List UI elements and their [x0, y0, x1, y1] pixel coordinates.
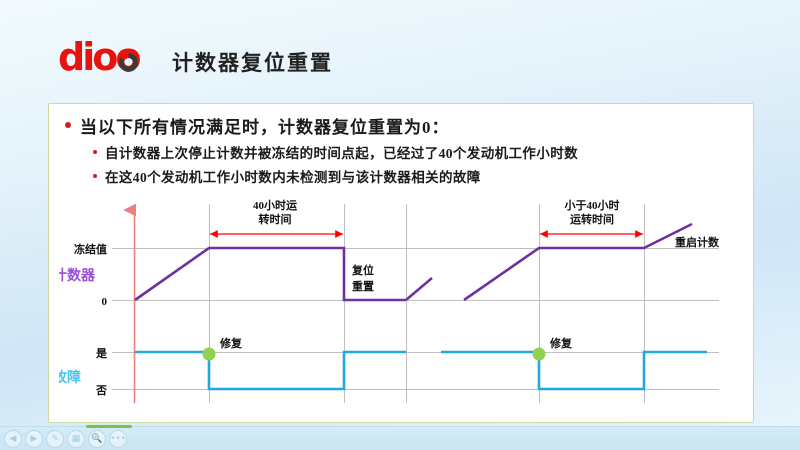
svg-text:小于40小时: 小于40小时: [564, 198, 620, 212]
repair-label-2: 修复: [549, 336, 573, 350]
counter-trace-reset-ramp: [406, 278, 432, 300]
annotation-restart-count: 重启计数: [675, 235, 720, 249]
counter-trace-second-cycle: [464, 224, 692, 300]
bullet-dot-icon: [65, 122, 71, 128]
bullet-dot-icon: [93, 174, 97, 178]
slides-grid-icon[interactable]: ▦: [67, 430, 85, 448]
bullet-sub-1-text: 自计数器上次停止计数并被冻结的时间点起，已经过了40个发动机工作小时数: [105, 146, 578, 161]
annotation-span-less-40h: 小于40小时 运转时间: [540, 198, 643, 234]
bullet-main: 当以下所有情况满足时，计数器复位重置为0：: [65, 113, 450, 138]
page-title: 计数器复位重置: [172, 47, 333, 77]
svg-text:运转时间: 运转时间: [570, 212, 614, 226]
slide-header: dioo 计数器复位重置: [0, 0, 800, 95]
repair-marker-2: [533, 348, 546, 361]
annotation-span-40h: 40小时运 转时间: [210, 198, 343, 234]
bullet-dot-icon: [93, 150, 97, 154]
bullet-main-text: 当以下所有情况满足时，计数器复位重置为0：: [80, 118, 450, 137]
tick-label-no: 否: [95, 384, 107, 397]
series-label-fault: 故障: [59, 369, 81, 386]
tick-label-frozen-value: 冻结值: [74, 242, 107, 256]
svg-text:复位: 复位: [351, 263, 374, 277]
svg-text:转时间: 转时间: [259, 212, 292, 226]
pen-icon[interactable]: ✎: [46, 430, 64, 448]
search-icon[interactable]: 🔍: [88, 430, 106, 448]
tick-label-zero: 0: [102, 296, 108, 308]
series-label-counter: 计数器: [59, 267, 96, 284]
more-icon[interactable]: •••: [109, 430, 127, 448]
axis-ticks: [112, 249, 121, 390]
bullet-sub-1: 自计数器上次停止计数并被冻结的时间点起，已经过了40个发动机工作小时数: [93, 142, 578, 162]
next-icon[interactable]: ▶: [25, 430, 43, 448]
fault-trace: [135, 352, 406, 389]
counter-reset-timing-diagram: 冻结值 0 是 否 计数器 故障 修复: [59, 196, 745, 418]
bottom-accent-bar: [86, 425, 132, 428]
previous-icon[interactable]: ◀: [4, 430, 22, 448]
fault-trace-second-cycle: [441, 352, 707, 389]
logo: dioo: [58, 42, 148, 82]
repair-marker-1: [203, 348, 216, 361]
annotation-reset-label: 复位 重置: [351, 263, 374, 293]
gear-icon: [119, 53, 138, 72]
bullet-sub-2-text: 在这40个发动机工作小时数内未检测到与该计数器相关的故障: [105, 170, 481, 185]
svg-text:40小时运: 40小时运: [253, 198, 297, 212]
bullet-sub-2: 在这40个发动机工作小时数内未检测到与该计数器相关的故障: [93, 166, 481, 186]
svg-text:重置: 重置: [352, 279, 374, 293]
bottom-bar: ◀ ▶ ✎ ▦ 🔍 •••: [0, 426, 800, 450]
repair-label-1: 修复: [219, 336, 243, 350]
navigation-icons[interactable]: ◀ ▶ ✎ ▦ 🔍 •••: [4, 430, 127, 448]
tick-label-yes: 是: [95, 347, 108, 360]
content-panel: 当以下所有情况满足时，计数器复位重置为0： 自计数器上次停止计数并被冻结的时间点…: [48, 103, 754, 423]
